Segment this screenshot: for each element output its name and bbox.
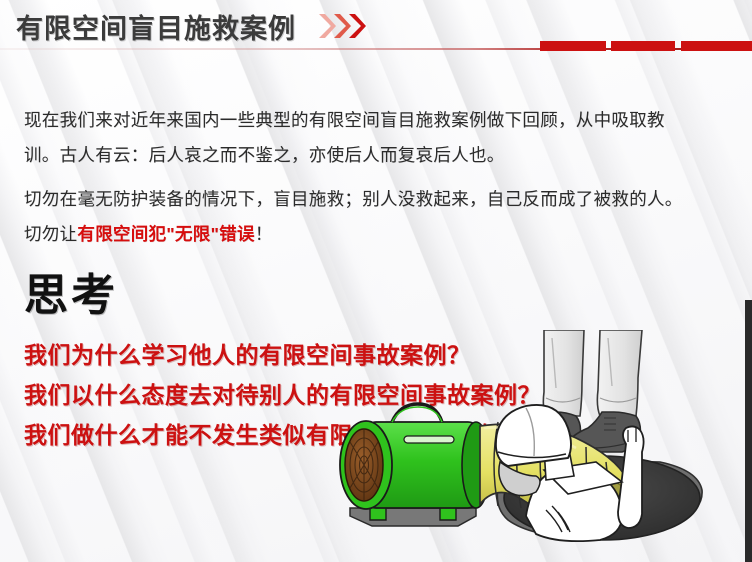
page-title: 有限空间盲目施救案例: [16, 7, 296, 46]
header-accent-bar-3: [681, 41, 752, 51]
paragraph2-line2: 切勿让有限空间犯"无限"错误！: [24, 217, 724, 252]
confined-space-illustration: [330, 330, 752, 562]
right-edge-strip: [745, 300, 752, 562]
body-copy-block: 现在我们来对近年来国内一些典型的有限空间盲目施救案例做下回顾，从中吸取教 训。古…: [24, 103, 724, 252]
paragraph1-line1: 现在我们来对近年来国内一些典型的有限空间盲目施救案例做下回顾，从中吸取教: [24, 103, 724, 138]
section-heading: 思考: [24, 259, 118, 323]
chevron-right-icon-dark: [348, 13, 366, 39]
paragraph2-line1: 切勿在毫无防护装备的情况下，盲目施救；别人没救起来，自己反而成了被救的人。: [24, 182, 724, 217]
paragraph-spacer: [24, 173, 724, 182]
header-accent-bar-1: [540, 41, 606, 51]
slide-canvas: 有限空间盲目施救案例 现在我们来对近年来国内一些典: [0, 0, 752, 562]
header-accent-bar-2: [611, 41, 675, 51]
blower-base: [350, 508, 476, 526]
paragraph2-prefix: 切勿让: [24, 224, 77, 244]
blower-label-plate: [404, 436, 454, 443]
ventilation-blower: [340, 404, 490, 526]
paragraph2-highlight: 有限空间犯"无限"错误: [77, 224, 254, 244]
paragraph2-suffix: ！: [255, 224, 273, 244]
slide-header: 有限空间盲目施救案例: [0, 0, 752, 56]
paragraph1-line2: 训。古人有云：后人哀之而不鉴之，亦使后人而复哀后人也。: [24, 138, 724, 173]
chevron-arrow-group: [318, 13, 382, 39]
